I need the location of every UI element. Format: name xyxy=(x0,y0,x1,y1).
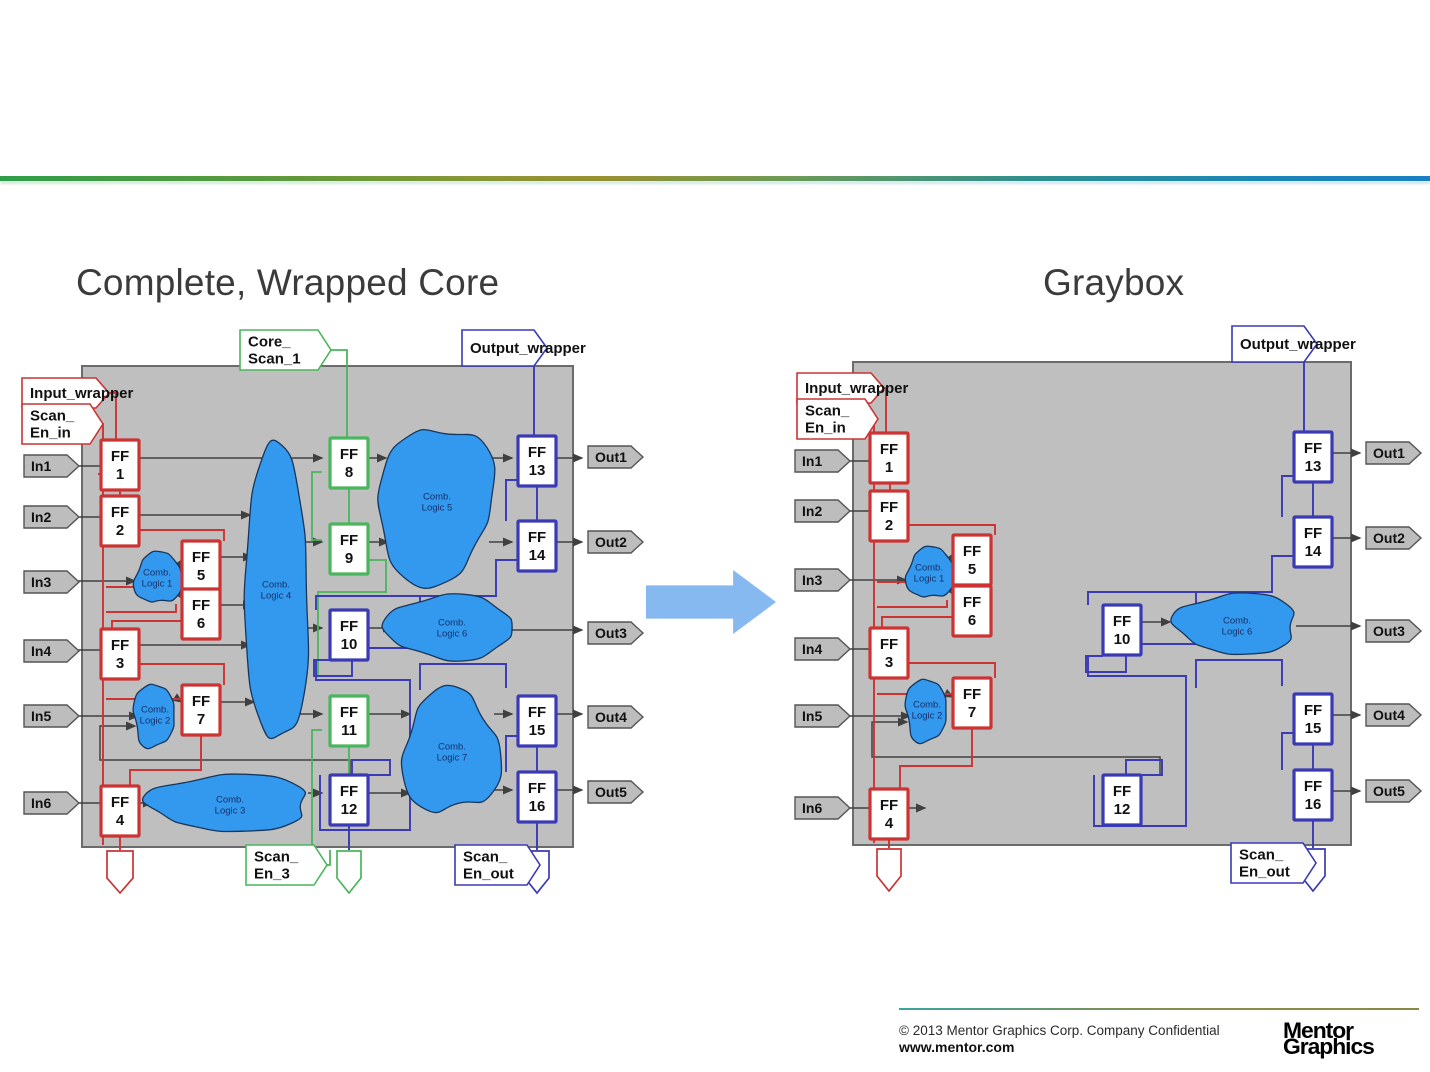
right-output-port-2[interactable]: Out2 xyxy=(1366,527,1421,549)
left-input-port-3-label: In3 xyxy=(31,574,51,590)
right-input-port-4-label: In4 xyxy=(802,641,822,657)
right-output-port-1-label: Out1 xyxy=(1373,445,1405,461)
left-output-port-5[interactable]: Out5 xyxy=(588,781,643,803)
scan-out-green-arrow xyxy=(337,851,361,893)
left-flag-core-scan-1-label-0: Core_ xyxy=(248,334,291,351)
left-comb-logic-2-label-0: Comb. xyxy=(141,705,169,716)
right-flag-scan-en-in-label-1: En_in xyxy=(805,420,846,437)
left-flag-scan-en-in-label-1: En_in xyxy=(30,425,71,442)
left-ff-15-label-1: 15 xyxy=(529,722,546,739)
right-ff-10[interactable]: FF10 xyxy=(1103,605,1141,655)
left-comb-logic-1-label-1: Logic 1 xyxy=(142,579,173,590)
left-ff-13-label-0: FF xyxy=(528,444,546,461)
right-output-port-3[interactable]: Out3 xyxy=(1366,620,1421,642)
right-ff-2[interactable]: FF2 xyxy=(870,491,908,541)
left-flag-core-scan-1[interactable]: Core_Scan_1 xyxy=(240,330,331,370)
right-output-port-5[interactable]: Out5 xyxy=(1366,780,1421,802)
right-ff-3-label-0: FF xyxy=(880,636,898,653)
right-ff-1[interactable]: FF1 xyxy=(870,433,908,483)
right-ff-13[interactable]: FF13 xyxy=(1294,432,1332,482)
right-output-port-1[interactable]: Out1 xyxy=(1366,442,1421,464)
right-comb-logic-2-label-1: Logic 2 xyxy=(912,711,943,722)
right-ff-7[interactable]: FF7 xyxy=(953,678,991,728)
left-ff-10[interactable]: FF10 xyxy=(330,610,368,660)
left-ff-5-label-1: 5 xyxy=(197,567,205,584)
left-ff-11-label-0: FF xyxy=(340,704,358,721)
right-input-port-5[interactable]: In5 xyxy=(795,705,850,727)
left-output-port-1[interactable]: Out1 xyxy=(588,446,643,468)
left-ff-1-label-0: FF xyxy=(111,448,129,465)
right-ff-3-label-1: 3 xyxy=(885,654,893,671)
left-flag-scan-en-3-label-1: En_3 xyxy=(254,866,290,883)
right-input-port-6[interactable]: In6 xyxy=(795,797,850,819)
left-output-port-4[interactable]: Out4 xyxy=(588,706,643,728)
right-input-port-1[interactable]: In1 xyxy=(795,450,850,472)
left-ff-9-label-1: 9 xyxy=(345,550,353,567)
left-ff-1-label-1: 1 xyxy=(116,466,124,483)
right-input-port-3[interactable]: In3 xyxy=(795,569,850,591)
left-ff-2[interactable]: FF2 xyxy=(101,496,139,546)
right-ff-14[interactable]: FF14 xyxy=(1294,517,1332,567)
left-input-port-6[interactable]: In6 xyxy=(24,792,79,814)
right-ff-6[interactable]: FF6 xyxy=(953,586,991,636)
footer-text: © 2013 Mentor Graphics Corp. Company Con… xyxy=(899,1022,1220,1056)
right-flag-scan-en-out-label-0: Scan_ xyxy=(1239,847,1284,864)
scan-out-red-arrow xyxy=(107,851,133,893)
right-comb-logic-2: Comb.Logic 2 xyxy=(905,679,946,743)
right-ff-4-label-0: FF xyxy=(880,797,898,814)
left-input-port-5[interactable]: In5 xyxy=(24,705,79,727)
right-ff-15-label-0: FF xyxy=(1304,702,1322,719)
right-input-port-5-label: In5 xyxy=(802,708,822,724)
left-flag-scan-en-in[interactable]: Scan_En_in xyxy=(22,404,103,444)
left-comb-logic-3-label-0: Comb. xyxy=(216,795,244,806)
left-input-port-6-label: In6 xyxy=(31,795,51,811)
left-flag-scan-en-in-label-0: Scan_ xyxy=(30,408,75,425)
right-comb-logic-1-label-1: Logic 1 xyxy=(914,574,945,585)
mentor-graphics-logo: Mentor Graphics xyxy=(1283,1021,1413,1065)
left-output-port-3[interactable]: Out3 xyxy=(588,622,643,644)
left-ff-2-label-0: FF xyxy=(111,504,129,521)
right-ff-1-label-0: FF xyxy=(880,441,898,458)
left-ff-3[interactable]: FF3 xyxy=(101,629,139,679)
left-ff-6-label-1: 6 xyxy=(197,615,205,632)
left-output-port-4-label: Out4 xyxy=(595,709,627,725)
left-comb-logic-5-label-0: Comb. xyxy=(423,492,451,503)
right-ff-1-label-1: 1 xyxy=(885,459,893,476)
left-flag-output-wrapper[interactable]: Output_wrapper xyxy=(462,330,586,366)
right-ff-4-label-1: 4 xyxy=(885,815,894,832)
right-flag-scan-en-in-label-0: Scan_ xyxy=(805,403,850,420)
right-output-port-3-label: Out3 xyxy=(1373,623,1405,639)
left-comb-logic-7-label-0: Comb. xyxy=(438,742,466,753)
left-flag-scan-en-out[interactable]: Scan_En_out xyxy=(455,845,540,885)
left-ff-13[interactable]: FF13 xyxy=(518,436,556,486)
right-ff-13-label-0: FF xyxy=(1304,440,1322,457)
left-ff-7-label-0: FF xyxy=(192,693,210,710)
left-ff-9-label-0: FF xyxy=(340,532,358,549)
transition-arrow-group xyxy=(646,570,776,634)
circuit-diagram-svg: Comb.Logic 1Comb.Logic 2Comb.Logic 3Comb… xyxy=(0,0,1430,1072)
right-output-port-4[interactable]: Out4 xyxy=(1366,704,1421,726)
left-input-port-2[interactable]: In2 xyxy=(24,506,79,528)
left-ff-10-label-1: 10 xyxy=(341,636,358,653)
right-ff-10-label-1: 10 xyxy=(1114,631,1131,648)
right-ff-12[interactable]: FF12 xyxy=(1103,775,1141,825)
right-ff-14-label-0: FF xyxy=(1304,525,1322,542)
left-ff-1[interactable]: FF1 xyxy=(101,440,139,490)
right-ff-2-label-0: FF xyxy=(880,499,898,516)
right-ff-6-label-1: 6 xyxy=(968,612,976,629)
right-ff-5-label-1: 5 xyxy=(968,561,976,578)
company-url[interactable]: www.mentor.com xyxy=(899,1039,1220,1056)
left-ff-16[interactable]: FF16 xyxy=(518,772,556,822)
right-flag-input-wrapper-label-0: Input_wrapper xyxy=(805,380,909,397)
left-comb-logic-2-label-1: Logic 2 xyxy=(140,716,171,727)
left-ff-6-label-0: FF xyxy=(192,597,210,614)
left-comb-logic-6-label-1: Logic 6 xyxy=(437,629,468,640)
left-ff-5[interactable]: FF5 xyxy=(182,541,220,591)
left-comb-logic-5-label-1: Logic 5 xyxy=(422,503,453,514)
left-output-port-3-label: Out3 xyxy=(595,625,627,641)
right-ff-16-label-1: 16 xyxy=(1305,796,1322,813)
left-ff-16-label-1: 16 xyxy=(529,798,546,815)
right-output-port-2-label: Out2 xyxy=(1373,530,1405,546)
left-flag-output-wrapper-label-0: Output_wrapper xyxy=(470,340,586,357)
left-ff-9[interactable]: FF9 xyxy=(330,524,368,574)
right-ff-12-label-1: 12 xyxy=(1114,801,1131,818)
copyright-line: © 2013 Mentor Graphics Corp. Company Con… xyxy=(899,1022,1220,1039)
left-ff-4-label-1: 4 xyxy=(116,812,125,829)
right-input-port-1-label: In1 xyxy=(802,453,822,469)
left-input-port-1-label: In1 xyxy=(31,458,51,474)
right-ff-2-label-1: 2 xyxy=(885,517,893,534)
right-ff-4[interactable]: FF4 xyxy=(870,789,908,839)
left-input-port-3[interactable]: In3 xyxy=(24,571,79,593)
left-comb-logic-4-label-1: Logic 4 xyxy=(261,591,292,602)
left-ff-10-label-0: FF xyxy=(340,618,358,635)
right-comb-logic-6-label-1: Logic 6 xyxy=(1222,627,1253,638)
right-flag-output-wrapper-label-0: Output_wrapper xyxy=(1240,336,1356,353)
left-flag-scan-en-3-label-0: Scan_ xyxy=(254,849,299,866)
right-flag-scan-en-out[interactable]: Scan_En_out xyxy=(1231,843,1316,883)
left-ff-5-label-0: FF xyxy=(192,549,210,566)
left-diagram-group: Comb.Logic 1Comb.Logic 2Comb.Logic 3Comb… xyxy=(22,330,643,893)
left-ff-3-label-1: 3 xyxy=(116,655,124,672)
right-output-port-4-label: Out4 xyxy=(1373,707,1405,723)
left-ff-8-label-1: 8 xyxy=(345,464,353,481)
left-flag-scan-en-out-label-1: En_out xyxy=(463,866,514,883)
left-ff-12-label-0: FF xyxy=(340,783,358,800)
right-comb-logic-6-label-0: Comb. xyxy=(1223,616,1251,627)
left-output-port-1-label: Out1 xyxy=(595,449,627,465)
left-ff-15[interactable]: FF15 xyxy=(518,696,556,746)
left-ff-14[interactable]: FF14 xyxy=(518,521,556,571)
left-ff-8[interactable]: FF8 xyxy=(330,438,368,488)
right-comb-logic-2-label-0: Comb. xyxy=(913,700,941,711)
left-comb-logic-3-label-1: Logic 3 xyxy=(215,806,246,817)
left-comb-logic-4-label-0: Comb. xyxy=(262,580,290,591)
left-ff-7[interactable]: FF7 xyxy=(182,685,220,735)
right-input-port-6-label: In6 xyxy=(802,800,822,816)
right-input-port-3-label: In3 xyxy=(802,572,822,588)
left-comb-logic-7-label-1: Logic 7 xyxy=(437,753,468,764)
right-ff-3[interactable]: FF3 xyxy=(870,628,908,678)
right-ff-7-label-1: 7 xyxy=(968,704,976,721)
right-flag-output-wrapper[interactable]: Output_wrapper xyxy=(1232,326,1356,362)
left-input-port-5-label: In5 xyxy=(31,708,51,724)
right-ff-6-label-0: FF xyxy=(963,594,981,611)
right-comb-logic-1-label-0: Comb. xyxy=(915,563,943,574)
logo-line-2: Graphics xyxy=(1283,1037,1418,1057)
footer-rule xyxy=(899,1008,1419,1010)
left-ff-11[interactable]: FF11 xyxy=(330,696,368,746)
left-ff-8-label-0: FF xyxy=(340,446,358,463)
right-ff-5[interactable]: FF5 xyxy=(953,535,991,585)
left-ff-7-label-1: 7 xyxy=(197,711,205,728)
left-ff-4[interactable]: FF4 xyxy=(101,786,139,836)
left-ff-12-label-1: 12 xyxy=(341,801,358,818)
left-comb-logic-2: Comb.Logic 2 xyxy=(133,684,174,748)
left-flag-input-wrapper-label-0: Input_wrapper xyxy=(30,385,134,402)
right-input-port-2-label: In2 xyxy=(802,503,822,519)
left-input-port-4[interactable]: In4 xyxy=(24,640,79,662)
right-ff-14-label-1: 14 xyxy=(1305,543,1322,560)
right-input-port-4[interactable]: In4 xyxy=(795,638,850,660)
right-flag-scan-en-out-label-1: En_out xyxy=(1239,864,1290,881)
right-ff-12-label-0: FF xyxy=(1113,783,1131,800)
left-ff-4-label-0: FF xyxy=(111,794,129,811)
left-output-port-2[interactable]: Out2 xyxy=(588,531,643,553)
right-ff-13-label-1: 13 xyxy=(1305,458,1322,475)
left-ff-14-label-0: FF xyxy=(528,529,546,546)
left-comb-logic-6-label-0: Comb. xyxy=(438,618,466,629)
right-ff-5-label-0: FF xyxy=(963,543,981,560)
left-output-port-2-label: Out2 xyxy=(595,534,627,550)
right-ff-10-label-0: FF xyxy=(1113,613,1131,630)
right-ff-7-label-0: FF xyxy=(963,686,981,703)
right-ff-15-label-1: 15 xyxy=(1305,720,1322,737)
right-ff-15[interactable]: FF15 xyxy=(1294,694,1332,744)
left-flag-scan-en-out-label-0: Scan_ xyxy=(463,849,508,866)
right-diagram-group: Comb.Logic 1Comb.Logic 2Comb.Logic 6FF1F… xyxy=(795,326,1421,891)
left-ff-12[interactable]: FF12 xyxy=(330,775,368,825)
left-ff-15-label-0: FF xyxy=(528,704,546,721)
left-output-port-5-label: Out5 xyxy=(595,784,627,800)
right-input-port-2[interactable]: In2 xyxy=(795,500,850,522)
right-output-port-5-label: Out5 xyxy=(1373,783,1405,799)
left-ff-3-label-0: FF xyxy=(111,637,129,654)
left-ff-14-label-1: 14 xyxy=(529,547,546,564)
left-ff-16-label-0: FF xyxy=(528,780,546,797)
left-ff-6[interactable]: FF6 xyxy=(182,589,220,639)
left-input-port-4-label: In4 xyxy=(31,643,51,659)
diagram-canvas: Comb.Logic 1Comb.Logic 2Comb.Logic 3Comb… xyxy=(0,0,1430,1072)
left-ff-11-label-1: 11 xyxy=(341,722,357,739)
left-flag-core-scan-1-label-1: Scan_1 xyxy=(248,351,301,368)
scan-out-red-arrow xyxy=(877,849,901,891)
left-ff-13-label-1: 13 xyxy=(529,462,546,479)
left-ff-2-label-1: 2 xyxy=(116,522,124,539)
left-input-port-1[interactable]: In1 xyxy=(24,455,79,477)
right-ff-16[interactable]: FF16 xyxy=(1294,770,1332,820)
transition-arrow xyxy=(646,570,776,634)
right-flag-scan-en-in[interactable]: Scan_En_in xyxy=(797,399,878,439)
left-flag-scan-en-3[interactable]: Scan_En_3 xyxy=(246,845,327,885)
left-input-port-2-label: In2 xyxy=(31,509,51,525)
right-ff-16-label-0: FF xyxy=(1304,778,1322,795)
left-comb-logic-1-label-0: Comb. xyxy=(143,568,171,579)
